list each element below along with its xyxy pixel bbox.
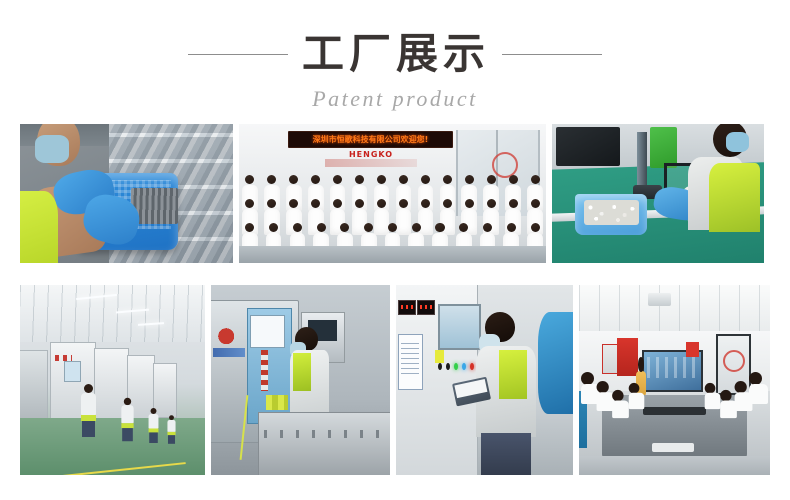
photo-parts-sorting-image [20, 124, 233, 263]
photo-production-line[interactable]: Production line hall with rows of white … [20, 285, 205, 475]
blue-machine-part [538, 312, 573, 415]
photo-parts-sorting[interactable]: Worker in blue nitrile gloves sorting me… [20, 124, 233, 263]
photo-production-line-image [20, 285, 205, 475]
photo-meeting-room-image [579, 285, 770, 475]
indicator-light-green [454, 363, 458, 370]
indicator-light-off [446, 363, 450, 370]
photo-process-control-image [396, 285, 573, 475]
line-operator [168, 415, 176, 444]
page-title: 工厂展示 [300, 29, 492, 79]
indicator-light-off [438, 363, 442, 370]
gallery-row-2: Production line hall with rows of white … [20, 285, 770, 475]
photo-cnc-machining-image [211, 285, 390, 475]
uniform-green-panel [499, 350, 527, 399]
cnc-window [250, 315, 284, 347]
gallery-row-1: Worker in blue nitrile gloves sorting me… [20, 124, 770, 263]
ceiling-projector [648, 293, 671, 306]
title-rule-left [188, 54, 288, 55]
meeting-room-ceiling [579, 285, 770, 334]
indicator-light-red [470, 363, 474, 370]
wall-poster-red [617, 338, 638, 376]
indicator-light-blue [462, 363, 466, 370]
factory-floor [20, 418, 205, 475]
title-row: 工厂展示 [0, 28, 790, 80]
uniform-green-panel [709, 163, 760, 233]
photo-company-group-image: 深圳市恒歌科技有限公司欢迎您! HENGKO [239, 124, 546, 263]
office-floor [239, 246, 546, 263]
uniform-green-panel [293, 353, 311, 391]
cnc-button-column [261, 350, 268, 392]
digital-readout [417, 300, 435, 315]
photo-process-control[interactable]: Technician writing on a clipboard at a c… [396, 285, 573, 475]
attendee [720, 390, 737, 418]
machine-brand-plate [213, 348, 245, 358]
photo-company-group[interactable]: 深圳市恒歌科技有限公司欢迎您! HENGKO [239, 124, 546, 263]
microscope-column [637, 132, 648, 190]
attendee [705, 383, 721, 409]
machine-control-panel [64, 361, 81, 382]
line-operator [148, 408, 158, 443]
led-banner-text: 深圳市恒歌科技有限公司欢迎您! [313, 134, 429, 145]
photo-quality-inspection-image [552, 124, 764, 263]
line-operator [121, 398, 133, 441]
digital-readout [398, 300, 416, 315]
attendee [734, 381, 752, 411]
hi-vis-vest [20, 191, 58, 263]
inspection-monitor [556, 127, 620, 166]
face-mask [35, 135, 69, 163]
line-operator [81, 384, 96, 437]
posted-procedure-sheet [398, 334, 423, 389]
photo-meeting-room[interactable]: Staff meeting around a long conference t… [579, 285, 770, 475]
table-keyboard [652, 443, 694, 453]
title-rule-right [502, 54, 602, 55]
photo-quality-inspection[interactable]: Operator inspecting white sintered pelle… [552, 124, 764, 263]
machine-brand-mark [215, 327, 244, 350]
led-welcome-banner: 深圳市恒歌科技有限公司欢迎您! [288, 131, 453, 148]
door-seal-decal [723, 350, 745, 372]
factory-photo-gallery: Worker in blue nitrile gloves sorting me… [20, 124, 770, 475]
warning-label [266, 395, 287, 410]
attendee [613, 390, 630, 418]
wall-logo-text: HENGKO [349, 150, 393, 159]
stainless-parts-tray [258, 412, 390, 475]
photo-cnc-machining[interactable]: Operator standing at a blue-door CNC mac… [211, 285, 390, 475]
indicator-light-row [438, 361, 473, 372]
wall-logo-subtitle [325, 159, 417, 167]
sintered-pellets [584, 200, 639, 225]
hmi-touch-screen [438, 304, 481, 350]
meeting-room-floor [579, 456, 770, 475]
page-subtitle: Patent product [0, 86, 790, 112]
face-mask [726, 132, 749, 151]
page-header: 工厂展示 Patent product [0, 0, 790, 122]
wall-badge [686, 342, 699, 357]
attendee [628, 383, 644, 409]
technician-trousers [481, 433, 531, 475]
